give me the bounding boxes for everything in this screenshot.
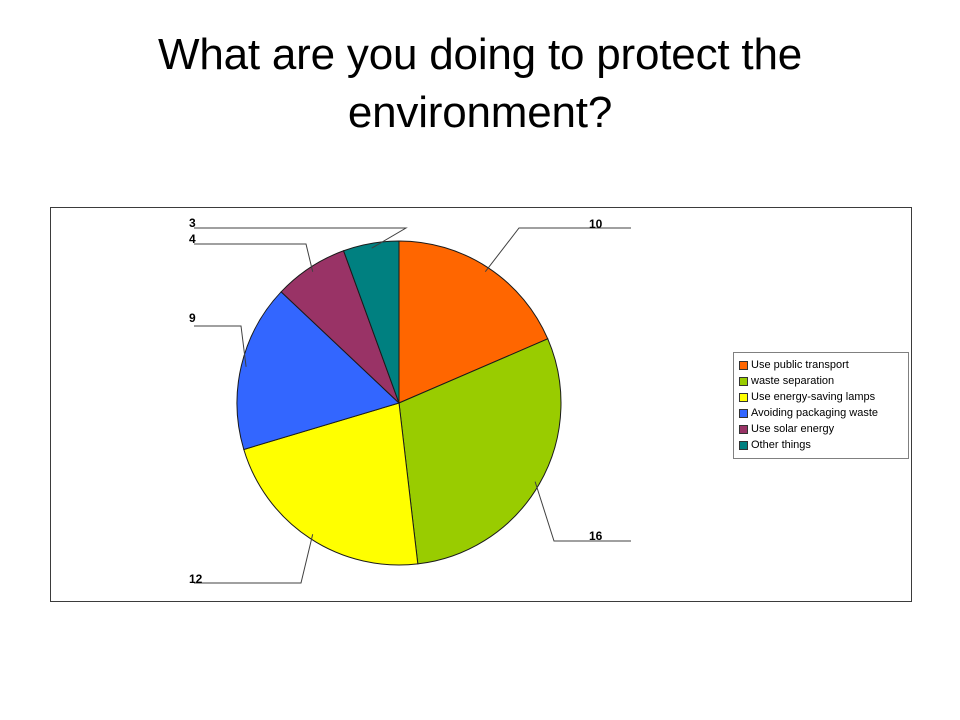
pie-slice-group xyxy=(237,241,561,565)
chart-legend: Use public transport waste separation Us… xyxy=(733,352,909,459)
legend-item-other-things[interactable]: Other things xyxy=(739,437,903,453)
legend-swatch-icon xyxy=(739,441,748,450)
legend-item-avoiding-packaging-waste[interactable]: Avoiding packaging waste xyxy=(739,405,903,421)
data-label-use-solar-energy: 4 xyxy=(189,232,196,246)
legend-item-use-public-transport[interactable]: Use public transport xyxy=(739,357,903,373)
leader-line xyxy=(485,228,631,272)
leader-line xyxy=(535,482,631,541)
legend-item-label: Use solar energy xyxy=(751,423,834,435)
page-title: What are you doing to protect the enviro… xyxy=(0,26,960,142)
legend-item-waste-separation[interactable]: waste separation xyxy=(739,373,903,389)
legend-swatch-icon xyxy=(739,377,748,386)
chart-container: 3 4 9 12 10 16 Use public transport wast… xyxy=(50,207,912,602)
legend-item-label: waste separation xyxy=(751,375,834,387)
title-line-1: What are you doing to protect the xyxy=(0,26,960,84)
data-label-avoiding-packaging-waste: 9 xyxy=(189,311,196,325)
legend-item-use-solar-energy[interactable]: Use solar energy xyxy=(739,421,903,437)
leader-line xyxy=(194,326,246,367)
legend-swatch-icon xyxy=(739,425,748,434)
title-line-2: environment? xyxy=(0,84,960,142)
legend-item-label: Other things xyxy=(751,439,811,451)
legend-item-label: Avoiding packaging waste xyxy=(751,407,878,419)
data-label-waste-separation: 16 xyxy=(589,529,602,543)
legend-item-label: Use energy-saving lamps xyxy=(751,391,875,403)
data-label-use-energy-saving-lamps: 12 xyxy=(189,572,202,586)
legend-swatch-icon xyxy=(739,409,748,418)
data-label-use-public-transport: 10 xyxy=(589,217,602,231)
legend-item-label: Use public transport xyxy=(751,359,849,371)
data-label-other-things: 3 xyxy=(189,216,196,230)
legend-item-use-energy-saving-lamps[interactable]: Use energy-saving lamps xyxy=(739,389,903,405)
leader-line xyxy=(194,244,313,272)
leader-line xyxy=(194,534,313,583)
legend-swatch-icon xyxy=(739,393,748,402)
legend-swatch-icon xyxy=(739,361,748,370)
